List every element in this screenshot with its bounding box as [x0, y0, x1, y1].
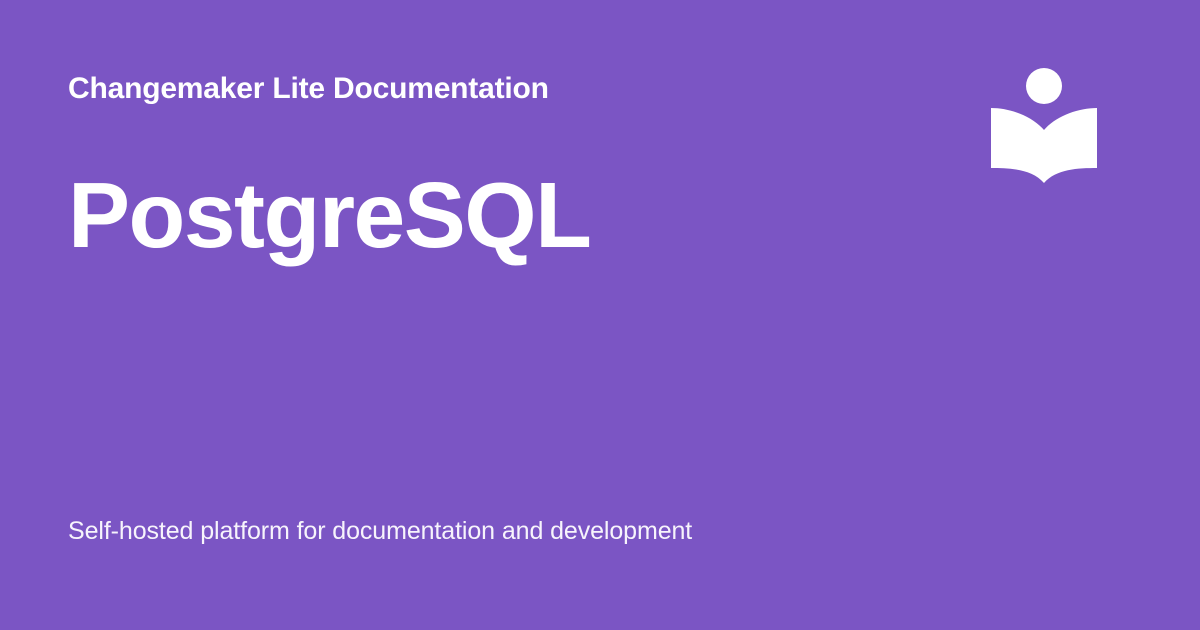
card-tagline: Self-hosted platform for documentation a…	[68, 514, 692, 548]
card-content: Changemaker Lite Documentation PostgreSQ…	[68, 0, 968, 630]
brand-logo	[988, 64, 1100, 188]
site-name-eyebrow: Changemaker Lite Documentation	[68, 70, 549, 108]
page-title: PostgreSQL	[68, 159, 590, 271]
open-graph-card: Changemaker Lite Documentation PostgreSQ…	[0, 0, 1200, 630]
open-book-reader-icon	[988, 64, 1100, 188]
